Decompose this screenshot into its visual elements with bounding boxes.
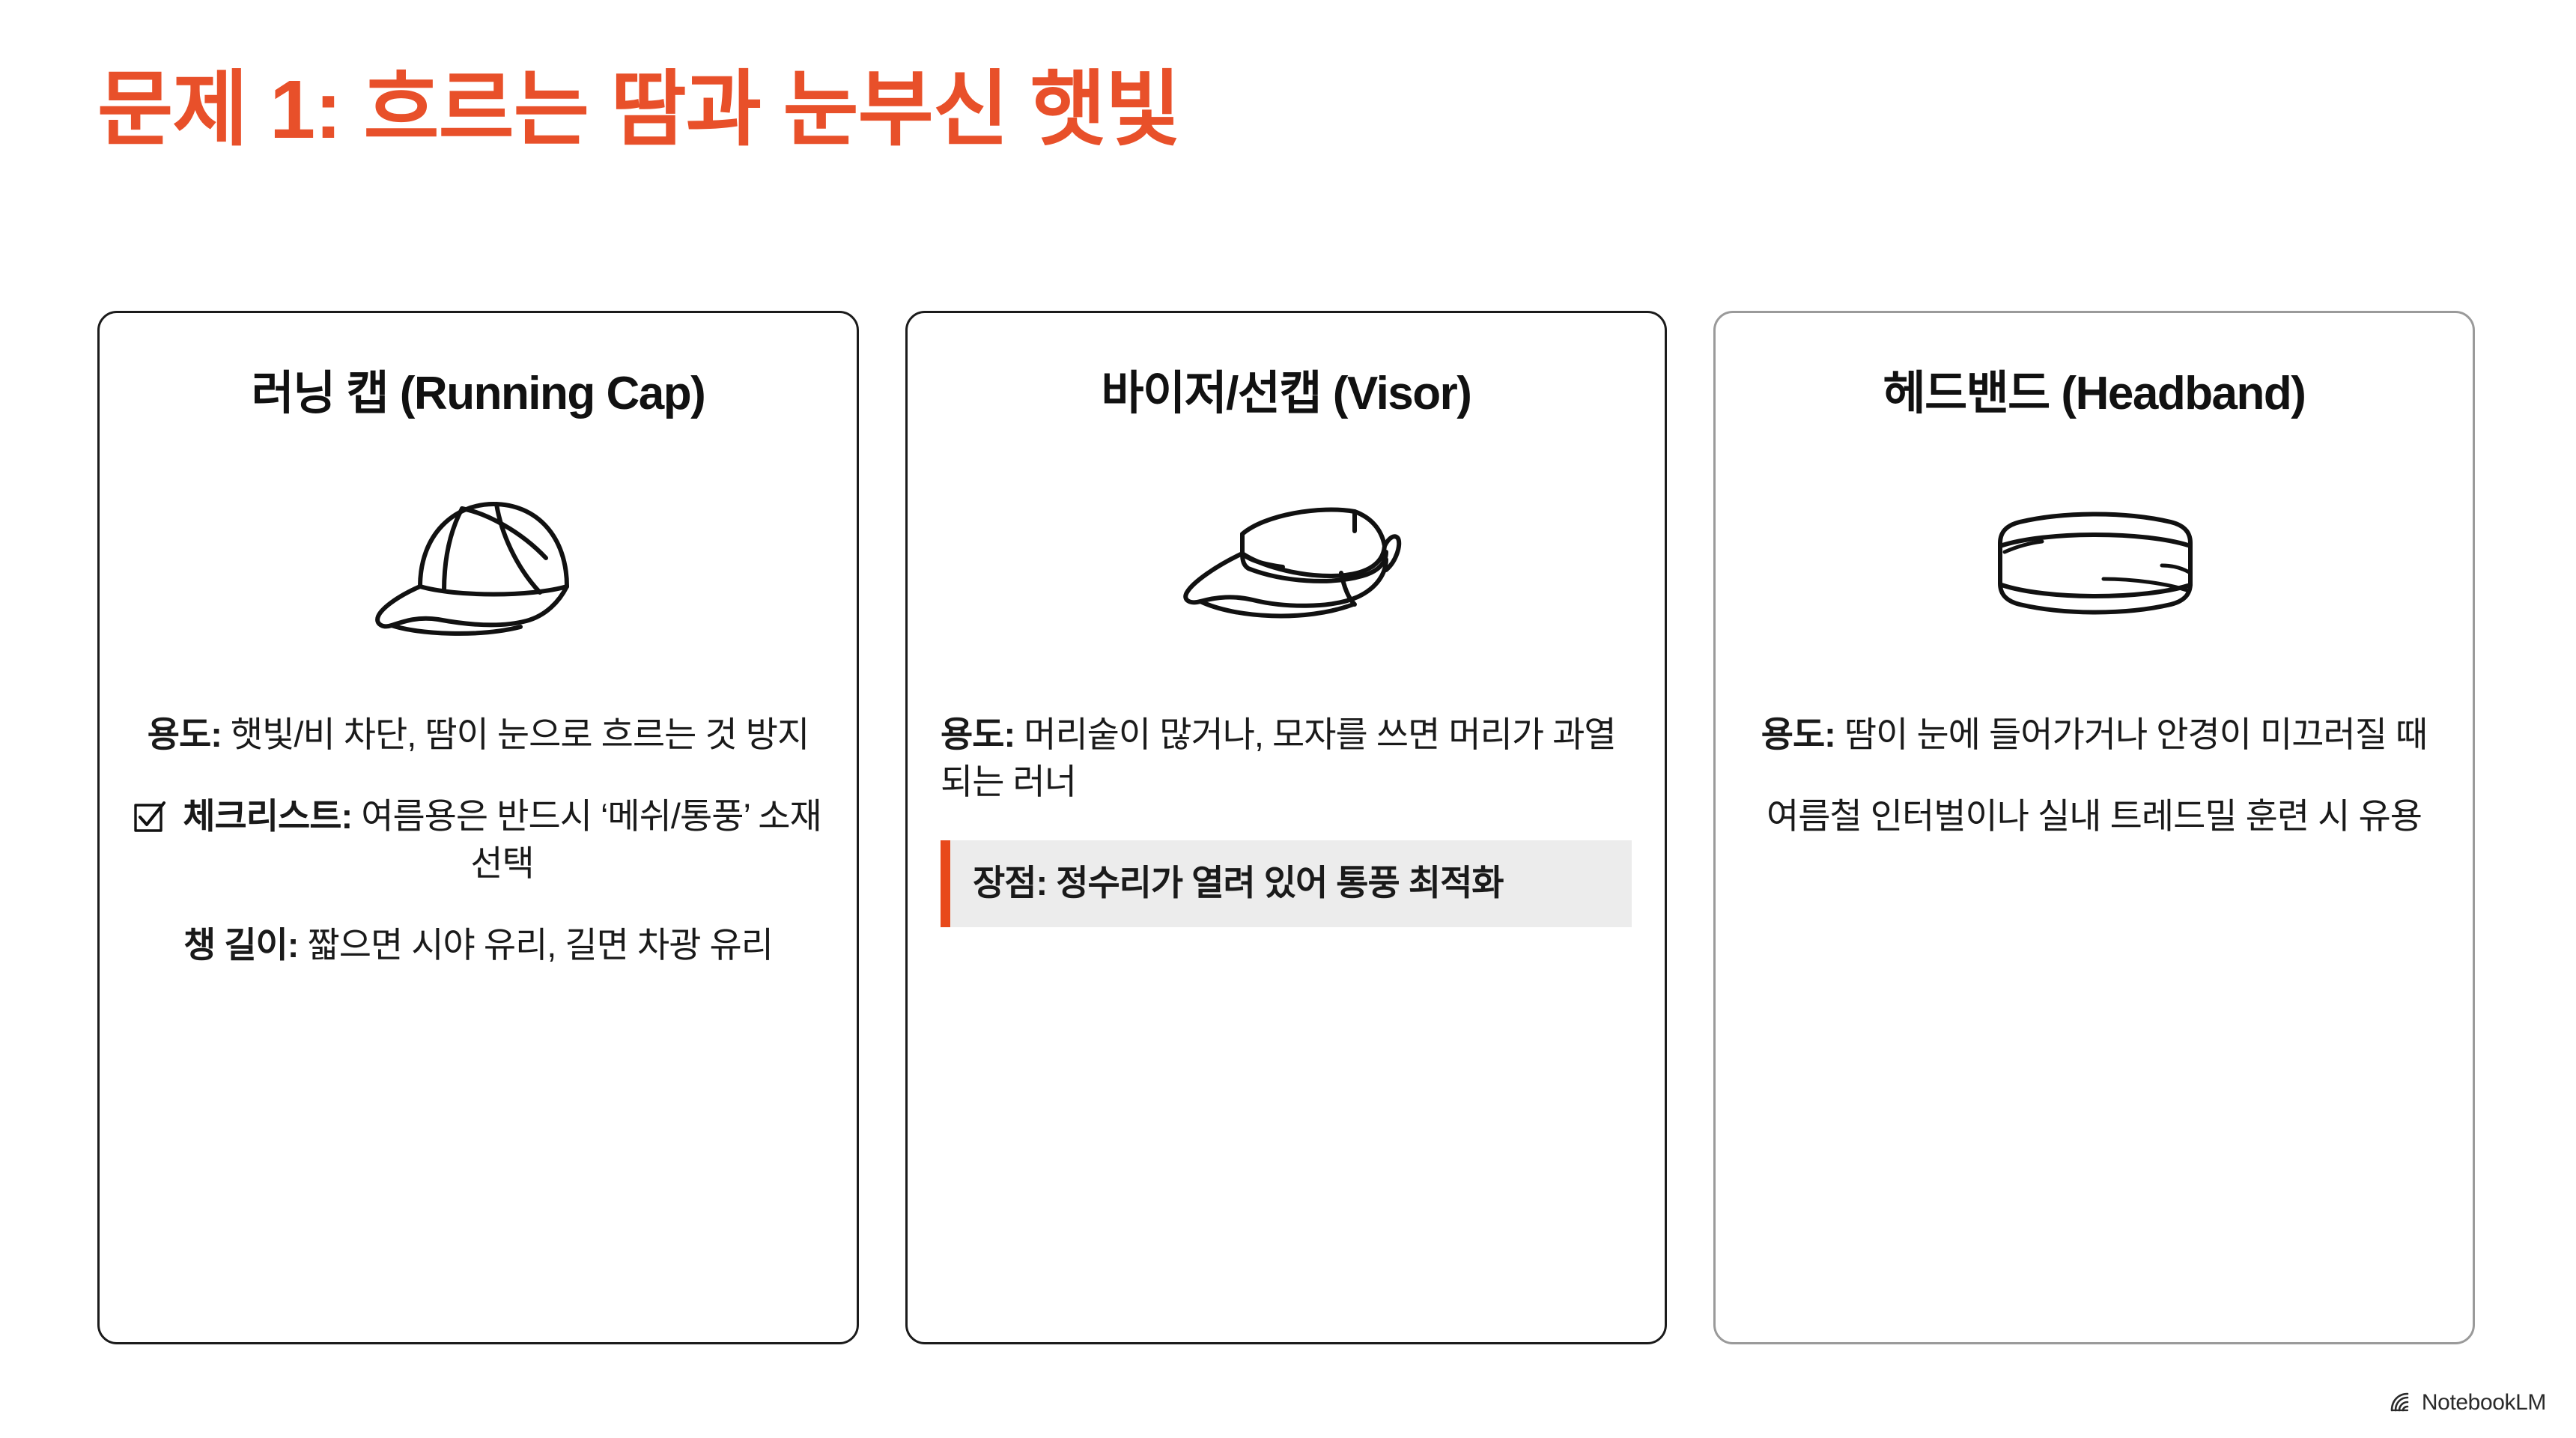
card-title-headband: 헤드밴드 (Headband) — [1883, 355, 2306, 422]
card1-line-checklist-label: 체크리스트: — [183, 796, 352, 836]
card1-line-brim-text: 짧으면 시야 유리, 길면 차광 유리 — [298, 925, 773, 965]
card-title-visor: 바이저/선캡 (Visor) — [1102, 355, 1471, 422]
card1-line-checklist: 체크리스트: 여름용은 반드시 ‘메쉬/통풍’ 소재 선택 — [180, 793, 824, 888]
page-title: 문제 1: 흐르는 땀과 눈부신 햇빛 — [97, 66, 1180, 155]
card2-callout-text: 장점: 정수리가 열려 있어 통풍 최적화 — [973, 860, 1609, 906]
card2-callout-advantage: 장점: 정수리가 열려 있어 통풍 최적화 — [941, 840, 1632, 927]
card2-callout-body: 정수리가 열려 있어 통풍 최적화 — [1047, 863, 1503, 902]
card-body-visor: 용도: 머리숱이 많거나, 모자를 쓰면 머리가 과열되는 러너 장점: 정수리… — [941, 712, 1632, 1308]
card-visor[interactable]: 바이저/선캡 (Visor) — [905, 311, 1667, 1344]
card3-line-note-text: 여름철 인터벌이나 실내 트레드밀 훈련 시 유용 — [1767, 796, 2422, 836]
card1-line-usage: 용도: 햇빛/비 차단, 땀이 눈으로 흐르는 것 방지 — [133, 712, 824, 759]
card2-line-usage: 용도: 머리숱이 많거나, 모자를 쓰면 머리가 과열되는 러너 — [941, 712, 1632, 806]
card-title-running-cap: 러닝 캡 (Running Cap) — [252, 355, 705, 422]
slide-canvas: 문제 1: 흐르는 땀과 눈부신 햇빛 러닝 캡 (Running Cap) — [0, 0, 2576, 1438]
card3-line-usage: 용도: 땀이 눈에 들어가거나 안경이 미끄러질 때 — [1749, 712, 2440, 759]
card-body-running-cap: 용도: 햇빛/비 차단, 땀이 눈으로 흐르는 것 방지 체크리스트: 여름용은… — [133, 712, 824, 1308]
card1-line-checklist-text: 여름용은 반드시 ‘메쉬/통풍’ 소재 선택 — [352, 796, 821, 883]
card2-line-usage-text: 머리숱이 많거나, 모자를 쓰면 머리가 과열되는 러너 — [941, 715, 1616, 801]
card3-line-note: 여름철 인터벌이나 실내 트레드밀 훈련 시 유용 — [1749, 793, 2440, 840]
notebooklm-spiral-icon — [2389, 1390, 2414, 1416]
visor-illustration — [941, 439, 1632, 686]
card2-callout-label: 장점: — [973, 863, 1047, 902]
card1-checklist-row: 체크리스트: 여름용은 반드시 ‘메쉬/통풍’ 소재 선택 — [133, 793, 824, 888]
card3-line-usage-text: 땀이 눈에 들어가거나 안경이 미끄러질 때 — [1835, 715, 2427, 754]
notebooklm-wordmark: NotebookLM — [2422, 1390, 2546, 1416]
running-cap-illustration — [133, 439, 824, 686]
checkbox-checked-icon — [133, 801, 167, 835]
card1-line-brim-label: 챙 길이: — [183, 925, 298, 965]
card-row: 러닝 캡 (Running Cap) — [97, 311, 2475, 1344]
card2-line-usage-label: 용도: — [941, 715, 1015, 754]
card1-line-brim: 챙 길이: 짧으면 시야 유리, 길면 차광 유리 — [133, 922, 824, 969]
card1-line-usage-label: 용도: — [148, 715, 222, 754]
notebooklm-footer: NotebookLM — [2389, 1390, 2546, 1416]
headband-illustration — [1749, 439, 2440, 686]
card-running-cap[interactable]: 러닝 캡 (Running Cap) — [97, 311, 859, 1344]
card1-line-usage-text: 햇빛/비 차단, 땀이 눈으로 흐르는 것 방지 — [222, 715, 809, 754]
card3-line-usage-label: 용도: — [1761, 715, 1835, 754]
card-headband[interactable]: 헤드밴드 (Headband) 용도: 땀이 눈에 들어가거 — [1713, 311, 2475, 1344]
card-body-headband: 용도: 땀이 눈에 들어가거나 안경이 미끄러질 때 여름철 인터벌이나 실내 … — [1749, 712, 2440, 1308]
